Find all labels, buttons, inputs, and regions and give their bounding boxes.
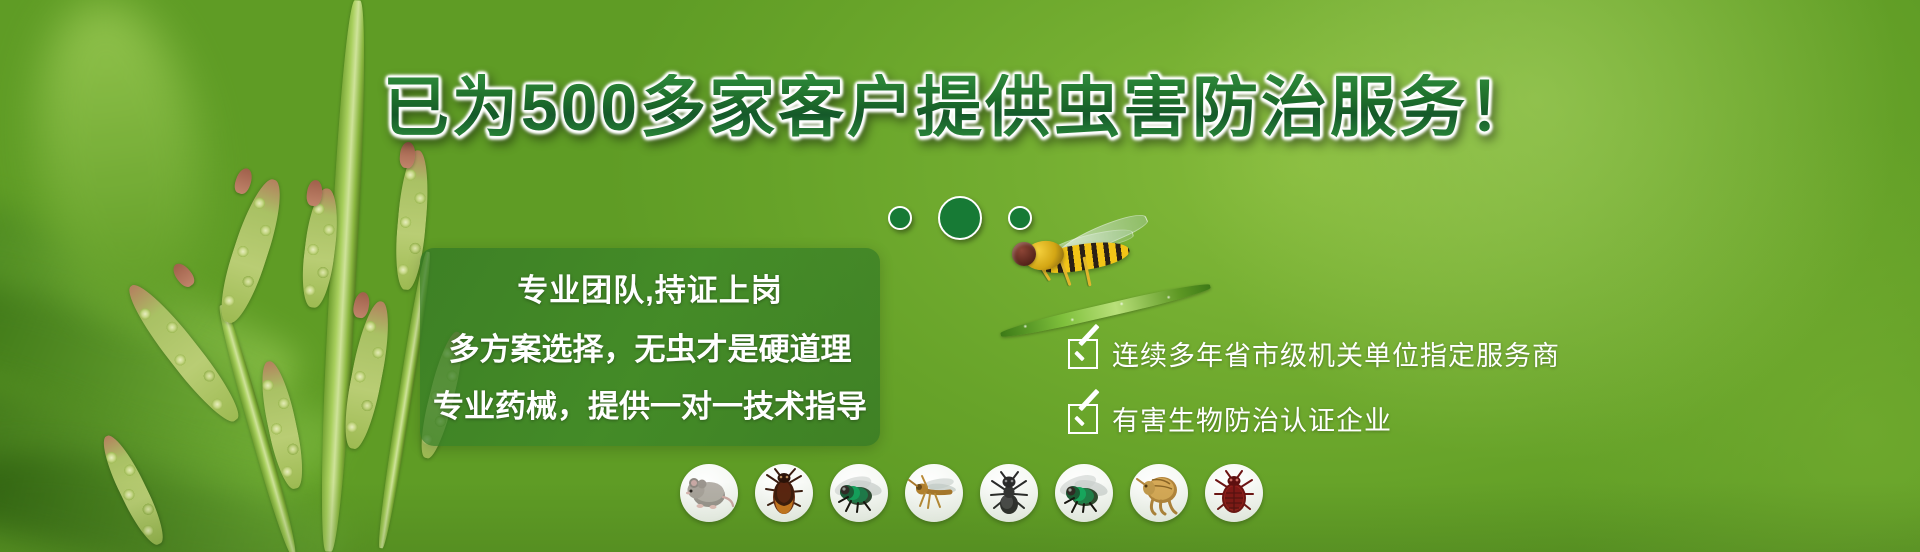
credential-item: 有害生物防治认证企业 xyxy=(1068,399,1560,438)
feature-panel: 专业团队,持证上岗 多方案选择，无虫才是硬道理 专业药械，提供一对一技术指导 xyxy=(420,248,880,446)
flea-icon xyxy=(1130,464,1188,522)
feature-line-2: 多方案选择，无虫才是硬道理 xyxy=(449,324,852,369)
checkbox-checked-icon xyxy=(1068,339,1098,369)
bud-tip xyxy=(232,166,254,195)
fly-icon xyxy=(830,464,888,522)
credential-label: 有害生物防治认证企业 xyxy=(1112,399,1392,438)
mouse-icon xyxy=(680,464,738,522)
feature-line-1: 专业团队,持证上岗 xyxy=(517,265,783,310)
bedbug-icon xyxy=(1205,464,1263,522)
banner-headline: 已为500多家客户提供虫害防治服务！ xyxy=(0,74,1920,140)
decorative-dots xyxy=(0,196,1920,240)
ant-icon xyxy=(980,464,1038,522)
cockroach-icon xyxy=(755,464,813,522)
credential-label: 连续多年省市级机关单位指定服务商 xyxy=(1112,334,1560,373)
credential-item: 连续多年省市级机关单位指定服务商 xyxy=(1068,334,1560,373)
feature-line-3: 专业药械，提供一对一技术指导 xyxy=(433,381,867,426)
fly-icon-2 xyxy=(1055,464,1113,522)
decorative-dot-small xyxy=(1008,206,1032,230)
pest-control-banner: 已为500多家客户提供虫害防治服务！ 专业团队,持证上岗 多方案选择，无虫才是硬… xyxy=(0,0,1920,552)
hoverfly-photo xyxy=(1010,228,1230,338)
pest-icon-row xyxy=(680,464,1263,522)
decorative-dot-small xyxy=(888,206,912,230)
hoverfly-head xyxy=(1012,242,1036,266)
mosquito-icon xyxy=(905,464,963,522)
decorative-dot-large xyxy=(938,196,982,240)
checkbox-checked-icon xyxy=(1068,404,1098,434)
credential-list: 连续多年省市级机关单位指定服务商 有害生物防治认证企业 xyxy=(1068,334,1560,438)
plant-stem-perch xyxy=(999,280,1211,341)
